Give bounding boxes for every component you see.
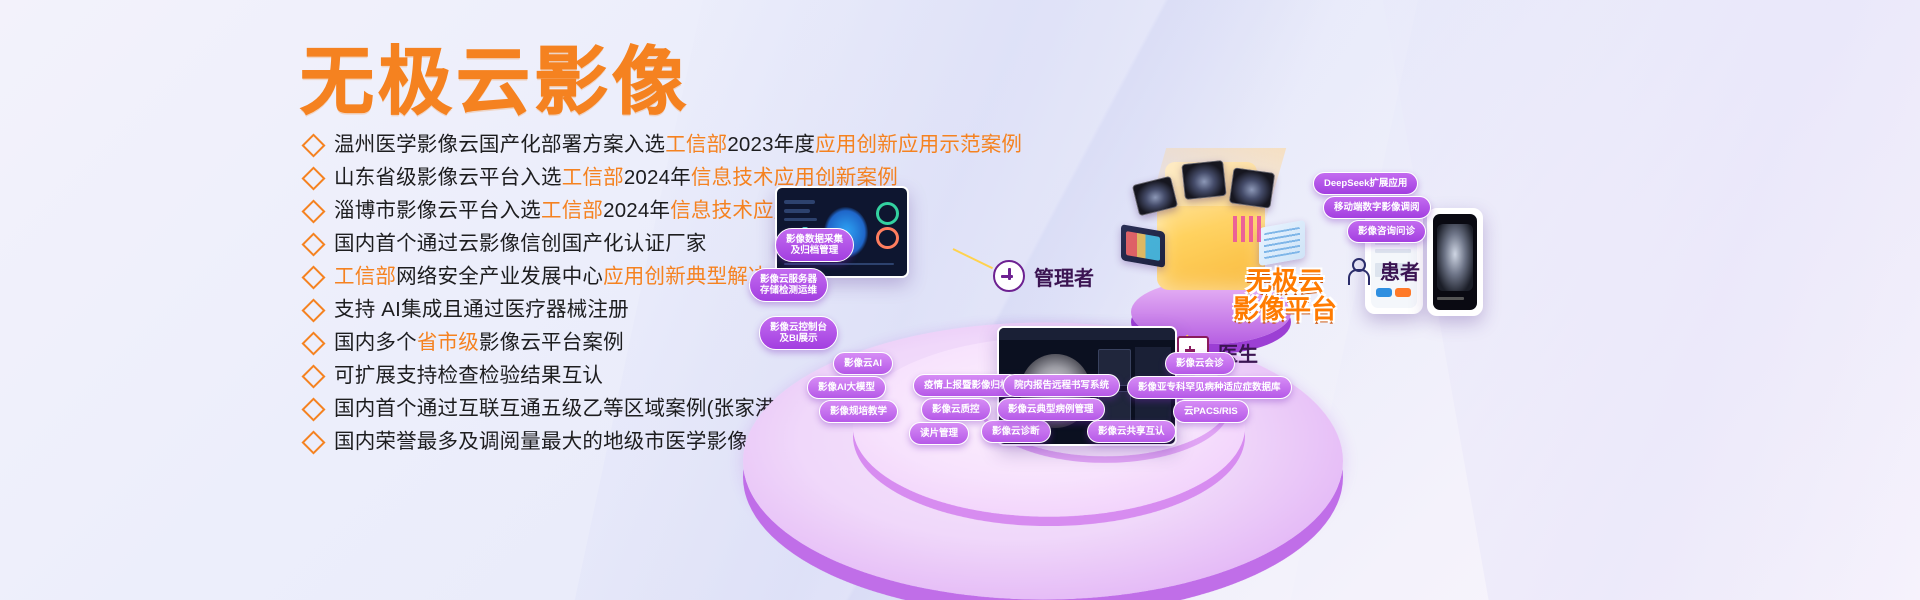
pill-line1: 影像AI大模型	[818, 382, 875, 393]
role-admin[interactable]: 管理者	[993, 260, 1094, 292]
pill-line2: 及BI展示	[770, 333, 827, 344]
center-brand-line1: 无极云	[1205, 268, 1365, 296]
diamond-bullet-icon	[301, 133, 325, 157]
dashboard-row	[784, 209, 810, 213]
pill-line1: 移动端数字影像调阅	[1334, 202, 1420, 213]
phone-line	[1375, 249, 1411, 253]
highlight-text: 工信部	[334, 265, 396, 288]
xray-image	[1437, 224, 1474, 291]
plain-text: 网络安全产业发展中心	[396, 265, 603, 288]
tower-panel-left	[1121, 224, 1165, 268]
pill-line1: 影像云AI	[844, 358, 882, 369]
pill-label[interactable]: 影像云诊断	[981, 420, 1051, 443]
list-item-text: 国内首个通过互联互通五级乙等区域案例(张家港)	[334, 392, 783, 425]
viewer-toolbar	[999, 328, 1175, 340]
pill-line1: DeepSeek扩展应用	[1324, 178, 1407, 189]
plain-text: 可扩展支持检查检验结果互认	[334, 364, 603, 387]
ecosystem-diagram: 无极云 影像平台	[735, 148, 1455, 478]
diamond-bullet-icon	[301, 232, 325, 256]
center-brand-label: 无极云 影像平台	[1205, 268, 1365, 324]
xray-film-icon	[1181, 160, 1227, 200]
pill-label[interactable]: 影像规培教学	[819, 400, 898, 423]
plain-text: 淄博市影像云平台入选	[334, 199, 541, 222]
dashboard-donut	[876, 202, 899, 225]
pill-line1: 院内报告远程书写系统	[1014, 380, 1109, 391]
pill-label[interactable]: 读片管理	[909, 422, 969, 445]
phone-primary-button	[1395, 288, 1412, 297]
pill-line1: 影像咨询问诊	[1358, 226, 1415, 237]
plain-text: 温州医学影像云国产化部署方案入选	[334, 133, 665, 156]
pill-line1: 影像云诊断	[992, 426, 1040, 437]
pill-label[interactable]: 影像云共享互认	[1087, 420, 1176, 443]
diamond-bullet-icon	[301, 265, 325, 289]
plain-text: 影像云平台案例	[479, 331, 624, 354]
pill-label[interactable]: 影像云服务器 存储检测运维	[749, 268, 828, 302]
pill-line1: 影像云服务器	[760, 274, 817, 285]
dashboard-row	[784, 200, 815, 204]
list-item-text: 国内首个通过云影像信创国产化认证厂家	[334, 227, 707, 260]
role-admin-label: 管理者	[1034, 262, 1094, 291]
pill-line1: 影像亚专科罕见病种适应症数据库	[1138, 382, 1281, 393]
pill-line1: 云PACS/RIS	[1184, 406, 1238, 417]
pill-label[interactable]: 云PACS/RIS	[1173, 400, 1249, 423]
pill-line1: 影像云典型病例管理	[1008, 404, 1094, 415]
list-item-text: 可扩展支持检查检验结果互认	[334, 359, 603, 392]
marketing-banner: 无极云影像 温州医学影像云国产化部署方案入选工信部2023年度应用创新应用示范案…	[0, 0, 1920, 600]
xray-film-icon	[1229, 167, 1276, 208]
person-icon	[1343, 257, 1371, 285]
highlight-text: 工信部	[665, 133, 727, 156]
plain-text: 国内首个通过互联互通五级乙等区域案例(张家港)	[334, 397, 783, 420]
role-patient[interactable]: 患者	[1343, 256, 1420, 285]
plain-text: 山东省级影像云平台入选	[334, 166, 562, 189]
pill-line2: 存储检测运维	[760, 285, 817, 296]
diamond-bullet-icon	[301, 397, 325, 421]
diamond-bullet-icon	[301, 166, 325, 190]
tower-bar-chart-icon	[1233, 216, 1263, 242]
phone-screen	[1433, 214, 1477, 310]
pill-line1: 影像云控制台	[770, 322, 827, 333]
page-title: 无极云影像	[300, 22, 690, 129]
pill-label[interactable]: 影像云控制台 及BI展示	[759, 316, 838, 350]
pill-line1: 读片管理	[920, 428, 958, 439]
pill-label[interactable]: 影像咨询问诊	[1347, 220, 1426, 243]
pill-label[interactable]: 影像AI大模型	[807, 376, 886, 399]
phone-line	[1437, 297, 1463, 301]
diamond-bullet-icon	[301, 331, 325, 355]
connector-line	[953, 248, 993, 269]
list-item-text: 国内多个省市级影像云平台案例	[334, 326, 624, 359]
pill-label[interactable]: 移动端数字影像调阅	[1323, 196, 1431, 219]
pill-label[interactable]: 影像云会诊	[1165, 352, 1235, 375]
pill-line1: 影像云共享互认	[1098, 426, 1165, 437]
plain-text: 国内首个通过云影像信创国产化认证厂家	[334, 232, 707, 255]
pill-line1: 影像云质控	[932, 404, 980, 415]
dashboard-row	[784, 263, 895, 266]
pill-label[interactable]: 影像云AI	[833, 352, 893, 375]
diamond-bullet-icon	[301, 298, 325, 322]
diamond-bullet-icon	[301, 364, 325, 388]
center-brand-line2: 影像平台	[1205, 296, 1365, 324]
dashboard-donut	[876, 227, 899, 250]
plain-text: 2024年	[603, 199, 670, 222]
pill-label[interactable]: DeepSeek扩展应用	[1313, 172, 1418, 195]
pill-label[interactable]: 院内报告远程书写系统	[1003, 374, 1120, 397]
highlight-text: 工信部	[541, 199, 603, 222]
pill-label[interactable]: 影像数据采集 及归档管理	[775, 228, 854, 262]
diamond-bullet-icon	[301, 430, 325, 454]
tower-panel-right	[1259, 220, 1305, 266]
pill-line1: 影像规培教学	[830, 406, 887, 417]
pill-line1: 影像云会诊	[1176, 358, 1224, 369]
dashboard-row	[784, 218, 818, 222]
highlight-text: 省市级	[417, 331, 479, 354]
patient-phone-xray	[1427, 208, 1483, 316]
diamond-bullet-icon	[301, 199, 325, 223]
pill-line2: 及归档管理	[786, 245, 843, 256]
phone-secondary-button	[1376, 288, 1393, 297]
plus-circle-icon	[993, 260, 1025, 292]
plain-text: 国内多个	[334, 331, 417, 354]
pill-line1: 影像数据采集	[786, 234, 843, 245]
plain-text: 2024年	[624, 166, 691, 189]
pill-label[interactable]: 影像云质控	[921, 398, 991, 421]
plain-text: 支持 AI集成且通过医疗器械注册	[334, 298, 629, 321]
list-item-text: 支持 AI集成且通过医疗器械注册	[334, 293, 629, 326]
pill-label[interactable]: 影像亚专科罕见病种适应症数据库	[1127, 376, 1292, 399]
pill-line1: 疫情上报暨影像归档	[924, 380, 1010, 391]
highlight-text: 工信部	[562, 166, 624, 189]
pill-label[interactable]: 影像云典型病例管理	[997, 398, 1105, 421]
role-patient-label: 患者	[1380, 256, 1420, 285]
